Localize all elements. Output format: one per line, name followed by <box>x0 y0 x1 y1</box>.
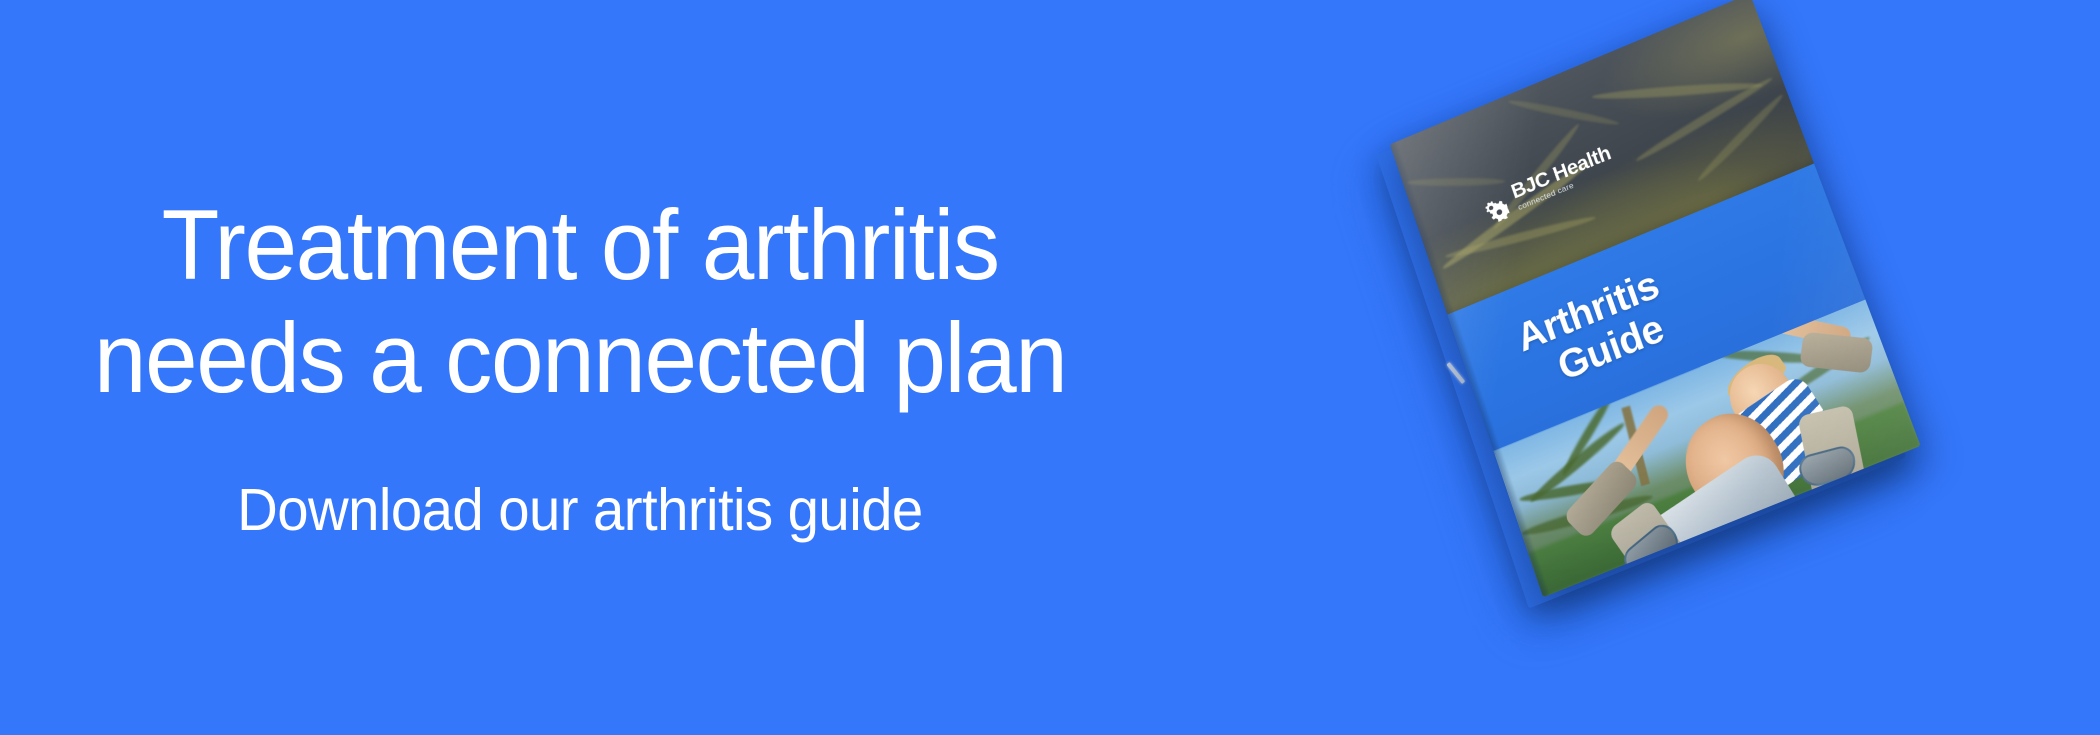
brochure-mockup: BJC Health connected care Arthritis Guid… <box>1330 10 2090 570</box>
palm-frond-icon <box>1406 177 1505 186</box>
sleeve-right <box>1799 332 1873 374</box>
palm-frond-icon <box>1507 97 1620 127</box>
brochure-transform-wrapper: BJC Health connected care Arthritis Guid… <box>1390 0 1921 597</box>
brochure-cover[interactable]: BJC Health connected care Arthritis Guid… <box>1390 0 1921 597</box>
promo-banner: Treatment of arthritis needs a connected… <box>0 0 2100 735</box>
page-title: Treatment of arthritis needs a connected… <box>94 189 1067 415</box>
palm-frond-icon <box>1444 213 1596 261</box>
banner-copy: Treatment of arthritis needs a connected… <box>0 0 1160 735</box>
banner-subheadline: Download our arthritis guide <box>237 475 923 546</box>
palm-frond-icon <box>1695 92 1786 184</box>
